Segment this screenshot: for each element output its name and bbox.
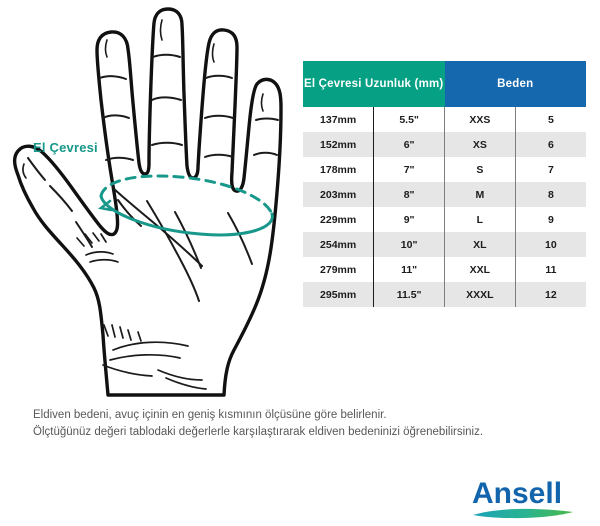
instructions-line-1: Eldiven bedeni, avuç içinin en geniş kıs… <box>33 407 573 424</box>
ansell-wordmark: Ansell <box>472 477 562 510</box>
cell-inch: 10" <box>374 232 445 257</box>
header-size: Beden <box>445 61 587 107</box>
glove-size-table: El Çevresi Uzunluk (mm) Beden 137mm 5.5"… <box>303 61 586 307</box>
cell-size: S <box>445 157 516 182</box>
header-hand-circumference: El Çevresi Uzunluk (mm) <box>303 61 445 107</box>
table-row: 178mm 7" S 7 <box>303 157 586 182</box>
cell-num: 7 <box>515 157 586 182</box>
table-row: 229mm 9" L 9 <box>303 207 586 232</box>
table-body: 137mm 5.5" XXS 5 152mm 6" XS 6 178mm 7" … <box>303 107 586 307</box>
table-row: 152mm 6" XS 6 <box>303 132 586 157</box>
ansell-swoosh-icon <box>473 509 573 518</box>
cell-inch: 6" <box>374 132 445 157</box>
cell-size: XXXL <box>445 282 516 307</box>
cell-inch: 11.5" <box>374 282 445 307</box>
cell-mm: 178mm <box>303 157 374 182</box>
cell-mm: 295mm <box>303 282 374 307</box>
hand-circumference-label: El Çevresi <box>33 140 98 155</box>
cell-inch: 7" <box>374 157 445 182</box>
sizing-chart-page: El Çevresi El Çevresi Uzunluk (mm) Beden… <box>0 0 600 526</box>
table-head: El Çevresi Uzunluk (mm) Beden <box>303 61 586 107</box>
cell-size: L <box>445 207 516 232</box>
table-row: 254mm 10" XL 10 <box>303 232 586 257</box>
cell-num: 9 <box>515 207 586 232</box>
cell-inch: 11" <box>374 257 445 282</box>
cell-size: XS <box>445 132 516 157</box>
cell-num: 8 <box>515 182 586 207</box>
hand-illustration <box>0 0 300 400</box>
cell-mm: 203mm <box>303 182 374 207</box>
cell-mm: 279mm <box>303 257 374 282</box>
cell-inch: 5.5" <box>374 107 445 132</box>
cell-mm: 152mm <box>303 132 374 157</box>
cell-num: 10 <box>515 232 586 257</box>
cell-mm: 137mm <box>303 107 374 132</box>
table-row: 295mm 11.5" XXXL 12 <box>303 282 586 307</box>
cell-size: XXL <box>445 257 516 282</box>
cell-size: XL <box>445 232 516 257</box>
cell-num: 6 <box>515 132 586 157</box>
table-row: 279mm 11" XXL 11 <box>303 257 586 282</box>
cell-num: 11 <box>515 257 586 282</box>
ansell-logo: Ansell <box>470 473 590 521</box>
cell-num: 5 <box>515 107 586 132</box>
cell-size: XXS <box>445 107 516 132</box>
table-row: 203mm 8" M 8 <box>303 182 586 207</box>
cell-inch: 9" <box>374 207 445 232</box>
cell-mm: 254mm <box>303 232 374 257</box>
table-row: 137mm 5.5" XXS 5 <box>303 107 586 132</box>
cell-mm: 229mm <box>303 207 374 232</box>
table-header-row: El Çevresi Uzunluk (mm) Beden <box>303 61 586 107</box>
cell-size: M <box>445 182 516 207</box>
instructions-line-2: Ölçtüğünüz değeri tablodaki değerlerle k… <box>33 424 573 441</box>
instructions-caption: Eldiven bedeni, avuç içinin en geniş kıs… <box>33 407 573 440</box>
cell-inch: 8" <box>374 182 445 207</box>
cell-num: 12 <box>515 282 586 307</box>
